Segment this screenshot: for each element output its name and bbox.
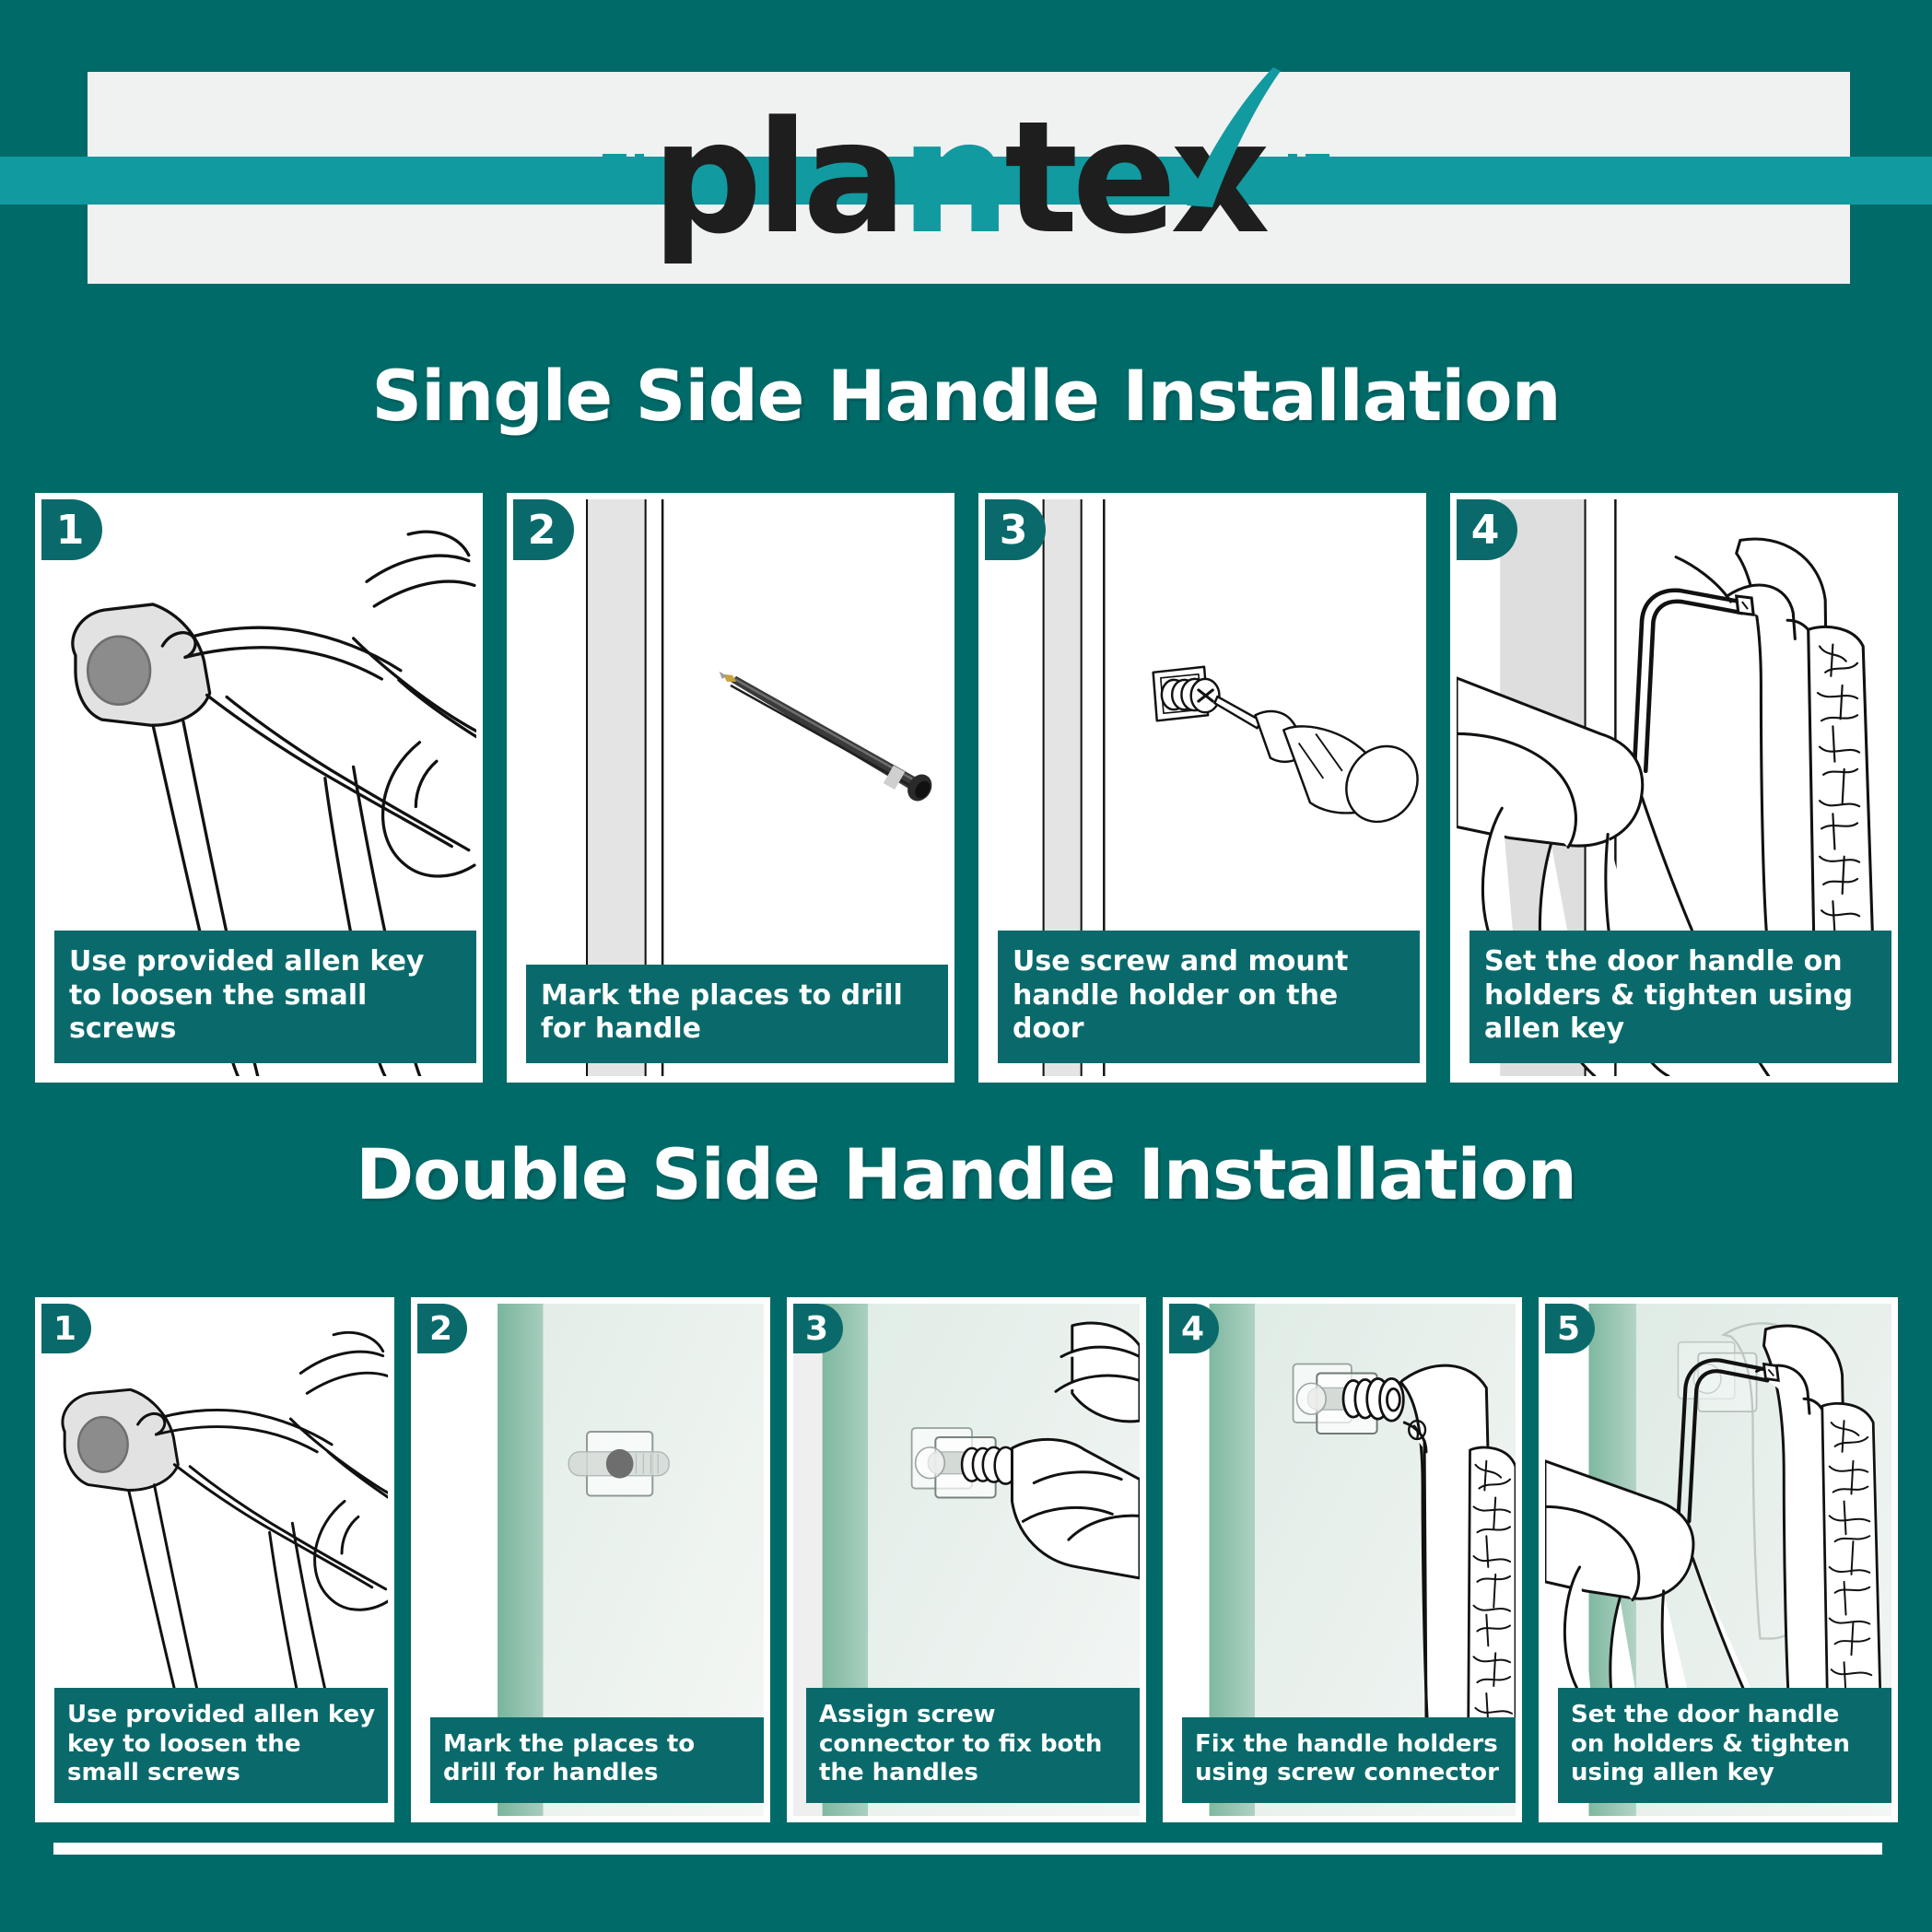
logo-wordmark: plantex xyxy=(651,100,1263,255)
step-number-badge: 3 xyxy=(985,499,1046,560)
logo-part-accent: n xyxy=(900,100,1004,255)
step-panel-double-5: 5 Set the door handle on holders & tight… xyxy=(1539,1297,1898,1822)
step-caption: Mark the places to drill for handle xyxy=(526,965,948,1063)
step-caption: Use provided allen key to loosen the sma… xyxy=(54,931,476,1063)
step-number-badge: 5 xyxy=(1545,1304,1595,1353)
step-number-badge: 2 xyxy=(417,1304,467,1353)
brand-logo: plantex xyxy=(0,72,1932,284)
logo-tick-left-bar xyxy=(635,154,644,202)
step-number-badge: 3 xyxy=(793,1304,843,1353)
footer-divider-rule xyxy=(53,1843,1882,1855)
step-panel-double-4: 4 Fix the handle holders using screw con… xyxy=(1163,1297,1522,1822)
logo-tick-right-bar xyxy=(1288,154,1297,202)
section-title-single-side: Single Side Handle Installation xyxy=(0,355,1932,437)
step-panel-single-3: 3 Use screw and mount handle holder on t… xyxy=(978,493,1426,1083)
section-title-double-side: Double Side Handle Installation xyxy=(0,1133,1932,1215)
step-panel-single-4: 4 Set the door handle on holders & tight… xyxy=(1450,493,1898,1083)
logo-tick-right-block xyxy=(1306,154,1329,202)
step-caption: Set the door handle on holders & tighten… xyxy=(1469,931,1891,1063)
step-caption: Use screw and mount handle holder on the… xyxy=(998,931,1420,1063)
single-side-steps-row: 1 Use provided allen key to loosen the s… xyxy=(35,493,1898,1083)
step-caption: Fix the handle holders using screw conne… xyxy=(1182,1717,1516,1803)
step-panel-double-1: 1 Use provided allen key key to loosen t… xyxy=(35,1297,394,1822)
step-caption: Mark the places to drill for handles xyxy=(430,1717,764,1803)
step-number-badge: 1 xyxy=(41,499,102,560)
step-panel-single-2: 2 Mark the places to drill for handle xyxy=(507,493,954,1083)
step-caption: Assign screw connector to fix both the h… xyxy=(806,1688,1140,1803)
logo-part-2: tex xyxy=(1004,100,1264,255)
step-caption: Use provided allen key key to loosen the… xyxy=(54,1688,388,1803)
step-panel-single-1: 1 Use provided allen key to loosen the s… xyxy=(35,493,483,1083)
logo-tick-left-block xyxy=(603,154,626,202)
step-number-badge: 4 xyxy=(1457,499,1517,560)
step-panel-double-3: 3 Assign screw connector to fix both the… xyxy=(787,1297,1146,1822)
step-number-badge: 4 xyxy=(1169,1304,1219,1353)
step-panel-double-2: 2 Mark the places to drill for handles xyxy=(411,1297,770,1822)
step-number-badge: 1 xyxy=(41,1304,91,1353)
logo-part-1: pla xyxy=(651,100,900,255)
step-caption: Set the door handle on holders & tighten… xyxy=(1558,1688,1891,1803)
double-side-steps-row: 1 Use provided allen key key to loosen t… xyxy=(35,1297,1898,1822)
step-number-badge: 2 xyxy=(513,499,574,560)
header-banner: plantex xyxy=(0,0,1932,304)
